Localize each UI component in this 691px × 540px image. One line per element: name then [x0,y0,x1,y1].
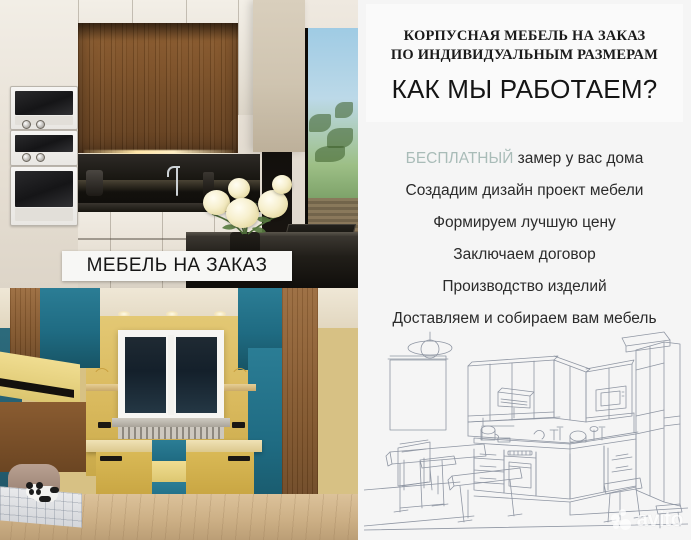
chrysanthemum-bloom [228,178,250,199]
kitchen-faucet [176,166,178,196]
desk-pedestal-drawers [152,440,186,502]
chrysanthemum-bloom [226,198,259,228]
coffee-machine [86,170,103,196]
step-text: Формируем лучшую цену [433,214,616,231]
window-pane-right [174,335,219,415]
power-outlet [98,422,111,428]
heading-card: КОРПУСНАЯ МЕБЕЛЬ НА ЗАКАЗ ПО ИНДИВИДУАЛЬ… [366,4,683,122]
microwave-knob [22,120,31,129]
kitchen-wood-panel [78,23,238,153]
bunk-bed [0,354,86,540]
step-item: Заключаем договор [358,239,691,271]
kitchen-beige-column [253,0,305,152]
panda-ear [36,482,43,489]
heading-main: КАК МЫ РАБОТАЕМ? [366,74,683,105]
step-item: БЕСПЛАТНЫЙ замер у вас дома [358,143,691,175]
steps-list: БЕСПЛАТНЫЙ замер у вас дома Создадим диз… [358,143,691,335]
radiator [118,427,224,439]
pedestal-drawer-teal [152,440,186,461]
cabinet-seam [238,0,239,115]
step-text: Создадим дизайн проект мебели [406,182,644,199]
photo-column: МЕБЕЛЬ НА ЗАКАЗ [0,0,358,540]
chrysanthemum-bloom [258,190,288,218]
hanging-cord [92,368,112,396]
kitchen-line-drawing [364,330,688,535]
step-item: Производство изделий [358,271,691,303]
power-outlet [232,422,245,428]
heading-line-1: КОРПУСНАЯ МЕБЕЛЬ НА ЗАКАЗ [366,27,683,46]
kids-room-photo [0,288,358,540]
oven-door-glass [15,171,73,207]
warming-drawer [10,130,78,166]
desk-handle [228,456,250,461]
hanging-cord [230,368,250,396]
window-sill [112,418,230,427]
panda-eye [36,489,41,495]
microwave-knob [36,120,45,129]
panda-ear [26,482,33,489]
avito-watermark: avito [611,508,683,532]
step-text: Производство изделий [442,278,606,295]
step-item: Создадим дизайн проект мебели [358,175,691,207]
window-pane-left [123,335,168,415]
furniture-to-order-badge: МЕБЕЛЬ НА ЗАКАЗ [62,251,292,281]
advert-image: МЕБЕЛЬ НА ЗАКАЗ КОРПУСНАЯ МЕБЕЛЬ НА ЗАКА… [0,0,691,540]
text-panel: КОРПУСНАЯ МЕБЕЛЬ НА ЗАКАЗ ПО ИНДИВИДУАЛЬ… [358,0,691,540]
microwave-door-glass [15,91,73,115]
desk-handle [100,456,122,461]
oven-knob [22,153,31,162]
pedestal-drawer-yellow [152,461,186,482]
step-text: Заключаем договор [453,246,595,263]
kitchen-photo [0,0,358,288]
badge-label: МЕБЕЛЬ НА ЗАКАЗ [87,255,268,277]
bunk-bed-frame [0,402,86,472]
step-text: Доставляем и собираем вам мебель [392,310,656,327]
panda-arm [50,487,59,493]
room-window [118,330,224,420]
panda-plush-toy [26,482,62,504]
wood-wardrobe-right [282,288,318,528]
avito-wordmark: avito [636,508,683,532]
heading-line-2: ПО ИНДИВИДУАЛЬНЫМ РАЗМЕРАМ [366,46,683,65]
warming-drawer-glass [15,135,73,152]
chrysanthemum-bloom [272,175,292,194]
panda-leg [39,496,51,502]
step-text: замер у вас дома [513,150,643,167]
oven-knob [36,153,45,162]
avito-logo-icon [611,509,633,531]
free-highlight: БЕСПЛАТНЫЙ [406,150,514,167]
oven-control-panel [15,208,73,221]
wood-panel-shadow [78,23,238,41]
step-item: Формируем лучшую цену [358,207,691,239]
panda-eye [29,489,34,495]
oven [10,166,78,226]
